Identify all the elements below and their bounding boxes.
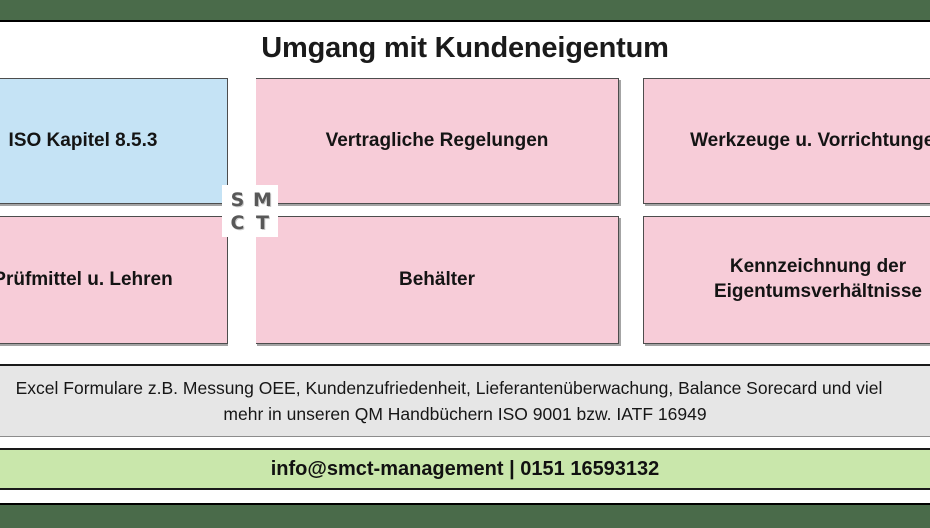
bottom-brand-band [0,503,930,528]
topic-box-label: Prüfmittel u. Lehren [0,268,173,293]
topic-box-werkzeuge-vorrichtungen[interactable]: Werkzeuge u. Vorrichtungen [643,78,930,204]
info-band-line-1: Excel Formulare z.B. Messung OEE, Kunden… [16,375,883,401]
topic-box-label: Kennzeichnung der Eigentumsverhältnisse [654,255,930,304]
info-band: Excel Formulare z.B. Messung OEE, Kunden… [0,364,930,437]
topic-box-label: ISO Kapitel 8.5.3 [9,129,158,154]
smct-logo-letter-s: S [225,188,250,211]
topic-box-label: Vertragliche Regelungen [326,129,549,154]
topic-box-pruefmittel-lehren[interactable]: Prüfmittel u. Lehren [0,216,228,344]
top-brand-band [0,0,930,22]
topic-box-label: Werkzeuge u. Vorrichtungen [690,129,930,154]
info-band-line-2: mehr in unseren QM Handbüchern ISO 9001 … [223,401,706,427]
topic-box-behaelter[interactable]: Behälter [255,216,619,344]
topic-box-iso-kapitel[interactable]: ISO Kapitel 8.5.3 [0,78,228,204]
smct-logo: S M C T [225,188,275,234]
contact-band: info@smct-management | 0151 16593132 [0,448,930,490]
topic-box-label: Behälter [399,268,475,293]
topic-box-vertragliche-regelungen[interactable]: Vertragliche Regelungen [255,78,619,204]
smct-logo-letter-m: M [250,188,275,211]
contact-info-text: info@smct-management | 0151 16593132 [271,458,660,481]
smct-logo-letter-c: C [225,211,250,234]
page-title: Umgang mit Kundeneigentum [0,24,930,72]
smct-logo-letter-t: T [250,211,275,234]
topic-box-kennzeichnung-eigentumsverhaeltnisse[interactable]: Kennzeichnung der Eigentumsverhältnisse [643,216,930,344]
